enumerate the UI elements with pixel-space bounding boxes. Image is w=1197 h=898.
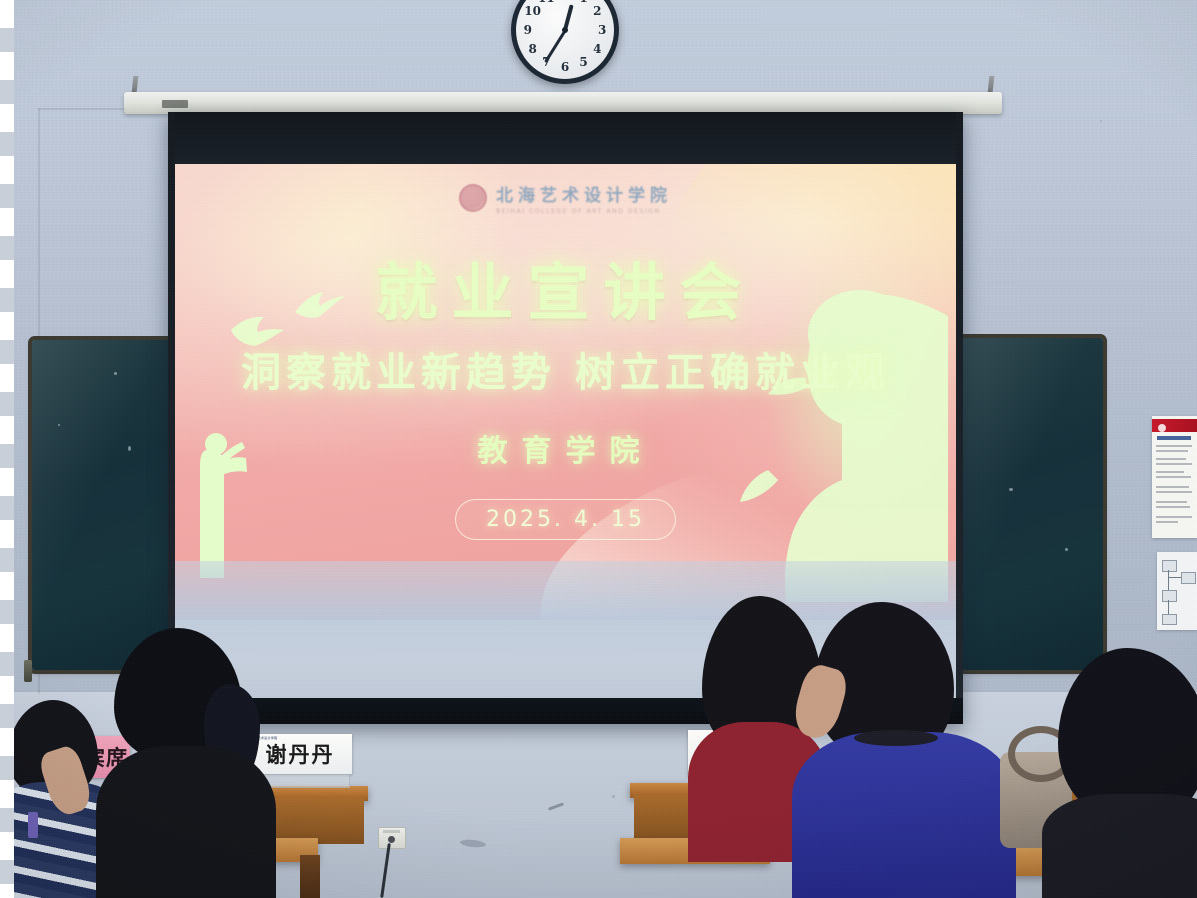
clock-number: 1 xyxy=(579,0,587,5)
poster-emblem-icon xyxy=(1158,424,1166,432)
name-card-text: 谢丹丹 xyxy=(266,739,335,769)
flowchart-node xyxy=(1162,614,1177,625)
chalk-mark xyxy=(1065,548,1068,551)
flowchart-node xyxy=(1181,572,1196,584)
clock-number: 10 xyxy=(524,4,541,18)
school-name-en: BEIHAI COLLEGE OF ART AND DESIGN xyxy=(496,208,661,215)
clock-number: 9 xyxy=(524,23,532,37)
poster-text-line xyxy=(1156,463,1192,465)
flowchart-node xyxy=(1162,590,1177,602)
slide-organizer: 教育学院 xyxy=(175,426,956,470)
lanyard xyxy=(28,812,38,838)
bench-left-leg xyxy=(300,855,320,898)
poster-red-banner xyxy=(1152,419,1197,432)
chalk-mark xyxy=(1009,488,1013,491)
poster-text-line xyxy=(1156,476,1191,478)
clock-minute-hand xyxy=(544,29,567,63)
poster-text-line xyxy=(1156,521,1178,523)
poster-text-line xyxy=(1156,471,1184,473)
school-seal-icon xyxy=(459,184,487,212)
poster-text-line xyxy=(1156,486,1189,488)
clock-number: 3 xyxy=(598,23,606,37)
presentation-slide: 北海艺术设计学院 BEIHAI COLLEGE OF ART AND DESIG… xyxy=(175,164,956,620)
slide-date-badge: 2025. 4. 15 xyxy=(455,499,676,540)
poster-text-line xyxy=(1156,445,1192,447)
torso xyxy=(1042,794,1197,898)
poster-text-line xyxy=(1156,516,1192,518)
flowchart-connector xyxy=(1168,570,1169,590)
chalk-mark xyxy=(114,372,117,375)
poster-text-line xyxy=(1156,458,1186,460)
outlet-socket-icon xyxy=(388,836,395,843)
poster-heading xyxy=(1157,436,1191,440)
poster-text-line xyxy=(1156,506,1190,508)
screen-brand-label xyxy=(162,100,188,108)
attendee-black-top xyxy=(92,628,272,898)
clock-number: 6 xyxy=(561,60,569,74)
attendee-right-edge xyxy=(1048,648,1197,898)
flowchart-node xyxy=(1162,560,1177,572)
wall-door-header xyxy=(38,108,130,110)
blackboard-clip xyxy=(24,660,32,682)
poster-text-line xyxy=(1156,501,1187,503)
clock-center-pin xyxy=(562,27,568,33)
torso xyxy=(792,732,1016,898)
wall-crack-c xyxy=(612,795,615,798)
screen-top-border xyxy=(168,112,963,164)
blackboard-left xyxy=(32,340,182,670)
projector-screen-housing xyxy=(124,92,1002,114)
classroom-photo: 12 1 2 3 4 5 6 7 8 9 10 11 xyxy=(0,0,1197,898)
flowchart-connector xyxy=(1168,600,1169,614)
clock-number: 8 xyxy=(528,42,536,56)
slide-subtitle: 洞察就业新趋势 树立正确就业观 xyxy=(175,340,956,398)
slide-main-title: 就业宣讲会 xyxy=(175,242,956,332)
clock-number: 5 xyxy=(579,55,587,69)
chalk-mark xyxy=(58,424,60,426)
collar-ruffle xyxy=(854,730,938,746)
clock-number: 4 xyxy=(593,42,601,56)
clock-number: 11 xyxy=(538,0,555,5)
hair xyxy=(1058,648,1197,818)
power-outlet xyxy=(378,827,406,849)
wall-poster-flowchart xyxy=(1157,552,1197,630)
blackboard-sheen xyxy=(32,340,182,670)
school-name-cn: 北海艺术设计学院 xyxy=(496,181,672,206)
chalk-mark xyxy=(128,446,131,451)
slide-school-logo: 北海艺术设计学院 BEIHAI COLLEGE OF ART AND DESIG… xyxy=(175,181,956,215)
poster-text-line xyxy=(1156,450,1188,452)
outlet-label xyxy=(383,830,400,833)
torso xyxy=(96,746,276,898)
poster-text-line xyxy=(1156,491,1192,493)
attendee-blue-jacket xyxy=(792,602,1022,898)
wall-crack-d xyxy=(1100,120,1102,122)
film-strip-border xyxy=(0,0,14,898)
flowchart-connector xyxy=(1168,577,1181,578)
clock-number: 2 xyxy=(593,4,601,18)
wall-poster-notice xyxy=(1152,416,1197,538)
